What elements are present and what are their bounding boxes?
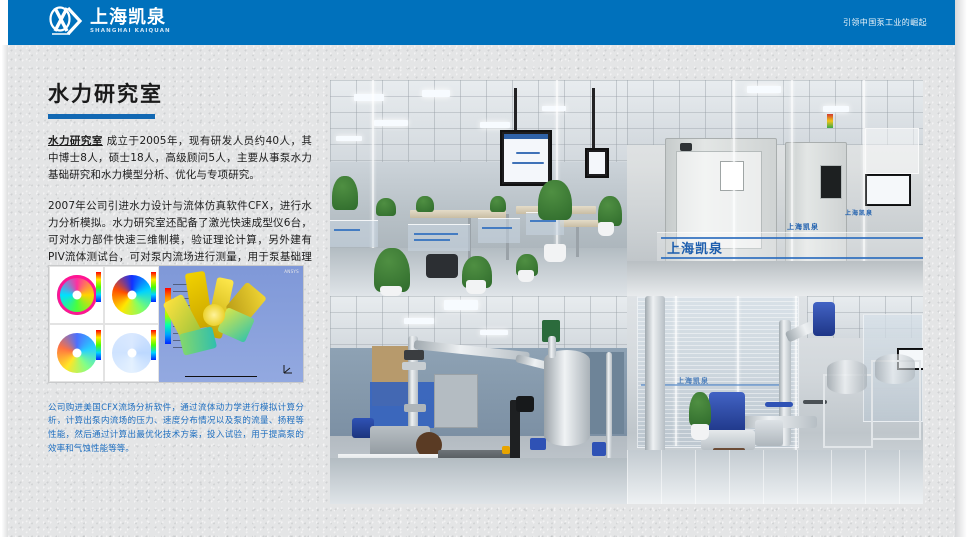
ceiling-light bbox=[747, 86, 781, 93]
planter-pot bbox=[380, 286, 402, 296]
floor-tile-grid bbox=[627, 450, 923, 504]
planter-pot bbox=[691, 424, 709, 440]
scale-bar bbox=[185, 376, 257, 377]
ceiling bbox=[330, 296, 627, 350]
planter-pot bbox=[544, 244, 566, 262]
impeller-streamline-contour-4 bbox=[104, 324, 159, 382]
desk-partition bbox=[408, 224, 470, 251]
slide-bottom-edge bbox=[0, 537, 972, 549]
contour-colorbar bbox=[96, 272, 101, 302]
contour-colorbar bbox=[151, 330, 156, 360]
pipe-valve bbox=[755, 420, 783, 446]
desk-partition bbox=[478, 218, 520, 243]
wall-poster bbox=[865, 128, 919, 174]
plant bbox=[332, 176, 358, 210]
brand-name-en: SHANGHAI KAIQUAN bbox=[90, 29, 171, 35]
photo-rapid-prototyping-lab[interactable]: 上海凯泉 上海凯泉 上海凯泉 bbox=[627, 80, 923, 296]
glass-mullion bbox=[675, 296, 677, 446]
floor bbox=[330, 458, 627, 504]
cfd-impeller-analysis-figure: ANSYS bbox=[48, 265, 304, 383]
cfd-contour-panels bbox=[49, 266, 159, 382]
actuator bbox=[530, 438, 546, 450]
wall-display bbox=[865, 174, 911, 206]
ceiling-light bbox=[404, 318, 434, 324]
machine-indicator bbox=[680, 143, 692, 151]
impeller-pressure-contour-2 bbox=[104, 266, 159, 324]
secondary-display bbox=[585, 148, 609, 178]
screen-mount-pole bbox=[592, 88, 595, 148]
kaiquan-glass-logo-small: 上海凯泉 bbox=[677, 376, 709, 386]
slide-left-edge bbox=[0, 45, 8, 549]
title-underline-rule bbox=[48, 114, 155, 119]
wall-display-screen bbox=[867, 176, 909, 204]
ceiling-grid bbox=[330, 296, 627, 350]
ceiling-light bbox=[480, 330, 508, 335]
ceiling-light bbox=[354, 94, 384, 101]
signal-tower-light bbox=[827, 114, 833, 128]
photo-office-research-area[interactable] bbox=[330, 80, 627, 296]
page-header: 上海凯泉 SHANGHAI KAIQUAN 引领中国泵工业的崛起 bbox=[8, 0, 955, 45]
ceiling-light bbox=[542, 106, 566, 111]
impeller-hub bbox=[127, 291, 136, 300]
plant bbox=[490, 196, 506, 212]
header-slogan: 引领中国泵工业的崛起 bbox=[843, 0, 927, 45]
slide-canvas: 上海凯泉 SHANGHAI KAIQUAN 引领中国泵工业的崛起 水力研究室 水… bbox=[0, 0, 972, 549]
impeller-hub bbox=[72, 349, 81, 358]
desk-partition bbox=[330, 220, 378, 247]
photo-gallery: 上海凯泉 上海凯泉 上海凯泉 bbox=[330, 80, 923, 504]
piv-camera bbox=[516, 396, 534, 412]
paragraph-lead-term: 水力研究室 bbox=[48, 135, 103, 147]
photo-piv-flow-test-bench[interactable] bbox=[330, 296, 627, 504]
glass-mullion bbox=[795, 296, 797, 456]
ceiling-light bbox=[444, 300, 478, 310]
plant bbox=[689, 392, 711, 426]
impeller-hub bbox=[72, 291, 81, 300]
kaiquan-glass-logo-small: 上海凯泉 bbox=[787, 222, 819, 232]
ceiling-light bbox=[336, 136, 362, 141]
desk-leg bbox=[576, 227, 579, 257]
impeller-hub-3d bbox=[203, 304, 225, 326]
transparent-test-tank bbox=[827, 360, 867, 394]
valve-handwheel bbox=[765, 402, 793, 407]
pipe-flange bbox=[402, 362, 426, 370]
tank-inlet-pipe bbox=[548, 336, 556, 358]
machine-touch-panel[interactable] bbox=[820, 165, 842, 199]
large-vertical-pipe bbox=[645, 296, 665, 456]
ceiling-light bbox=[823, 106, 849, 112]
floor bbox=[627, 261, 923, 296]
slide-title-bar bbox=[504, 134, 548, 139]
impeller-3d-pressure-render: ANSYS bbox=[159, 266, 303, 382]
vertical-inline-pump-upper bbox=[813, 302, 835, 336]
plant bbox=[376, 198, 396, 216]
presentation-display bbox=[500, 130, 552, 186]
wall-pipe bbox=[606, 352, 612, 462]
contour-colorbar bbox=[151, 272, 156, 302]
brand-logo[interactable]: 上海凯泉 SHANGHAI KAIQUAN bbox=[48, 5, 171, 39]
ceiling-light bbox=[480, 122, 510, 128]
doorway bbox=[434, 374, 478, 428]
office-chair bbox=[426, 254, 458, 278]
ceiling-light bbox=[374, 120, 408, 126]
kaiquan-glass-logo: 上海凯泉 bbox=[667, 238, 723, 257]
plant bbox=[416, 196, 434, 212]
pump-casing bbox=[701, 430, 755, 450]
screen-mount-pole bbox=[514, 88, 517, 132]
ceiling-light bbox=[422, 90, 450, 97]
machine-info-sheet bbox=[720, 161, 744, 191]
ansys-watermark: ANSYS bbox=[284, 269, 299, 274]
photo-pump-test-station[interactable]: 上海凯泉 bbox=[627, 296, 923, 504]
display-content bbox=[589, 152, 605, 174]
transparent-test-tank bbox=[875, 354, 915, 384]
left-text-column: 水力研究室 水力研究室 成立于2005年，现有研发人员约40人，其中博士8人，硕… bbox=[48, 82, 312, 294]
kaiquan-logo-icon bbox=[48, 6, 84, 38]
planter-pot bbox=[466, 280, 486, 294]
pressure-tank bbox=[544, 350, 590, 446]
page-title: 水力研究室 bbox=[48, 82, 312, 107]
cfd-figure-caption: 公司购进美国CFX流场分析软件，通过流体动力学进行模拟计算分析，计算出泵内流场的… bbox=[48, 402, 304, 457]
vertical-inline-pump-main bbox=[709, 392, 745, 434]
planter-pot bbox=[518, 270, 534, 282]
small-pump bbox=[592, 442, 606, 456]
paragraph-intro: 水力研究室 成立于2005年，现有研发人员约40人，其中博士8人，硕士18人，高… bbox=[48, 133, 312, 184]
floor bbox=[627, 450, 923, 504]
impeller-hub bbox=[127, 349, 136, 358]
planter-pot bbox=[598, 222, 614, 236]
display-content bbox=[504, 134, 548, 182]
impeller-pressure-contour-1 bbox=[49, 266, 104, 324]
contour-colorbar bbox=[96, 330, 101, 360]
kaiquan-glass-logo-small: 上海凯泉 bbox=[845, 208, 873, 217]
brand-name-cn: 上海凯泉 bbox=[90, 9, 171, 27]
plant bbox=[538, 180, 572, 220]
pipe-flange bbox=[404, 350, 424, 360]
laser-indicator bbox=[502, 446, 510, 454]
slide-right-edge bbox=[955, 0, 972, 549]
pipe-flange bbox=[404, 404, 426, 412]
axis-triad-icon bbox=[281, 362, 295, 376]
impeller-velocity-contour-3 bbox=[49, 324, 104, 382]
